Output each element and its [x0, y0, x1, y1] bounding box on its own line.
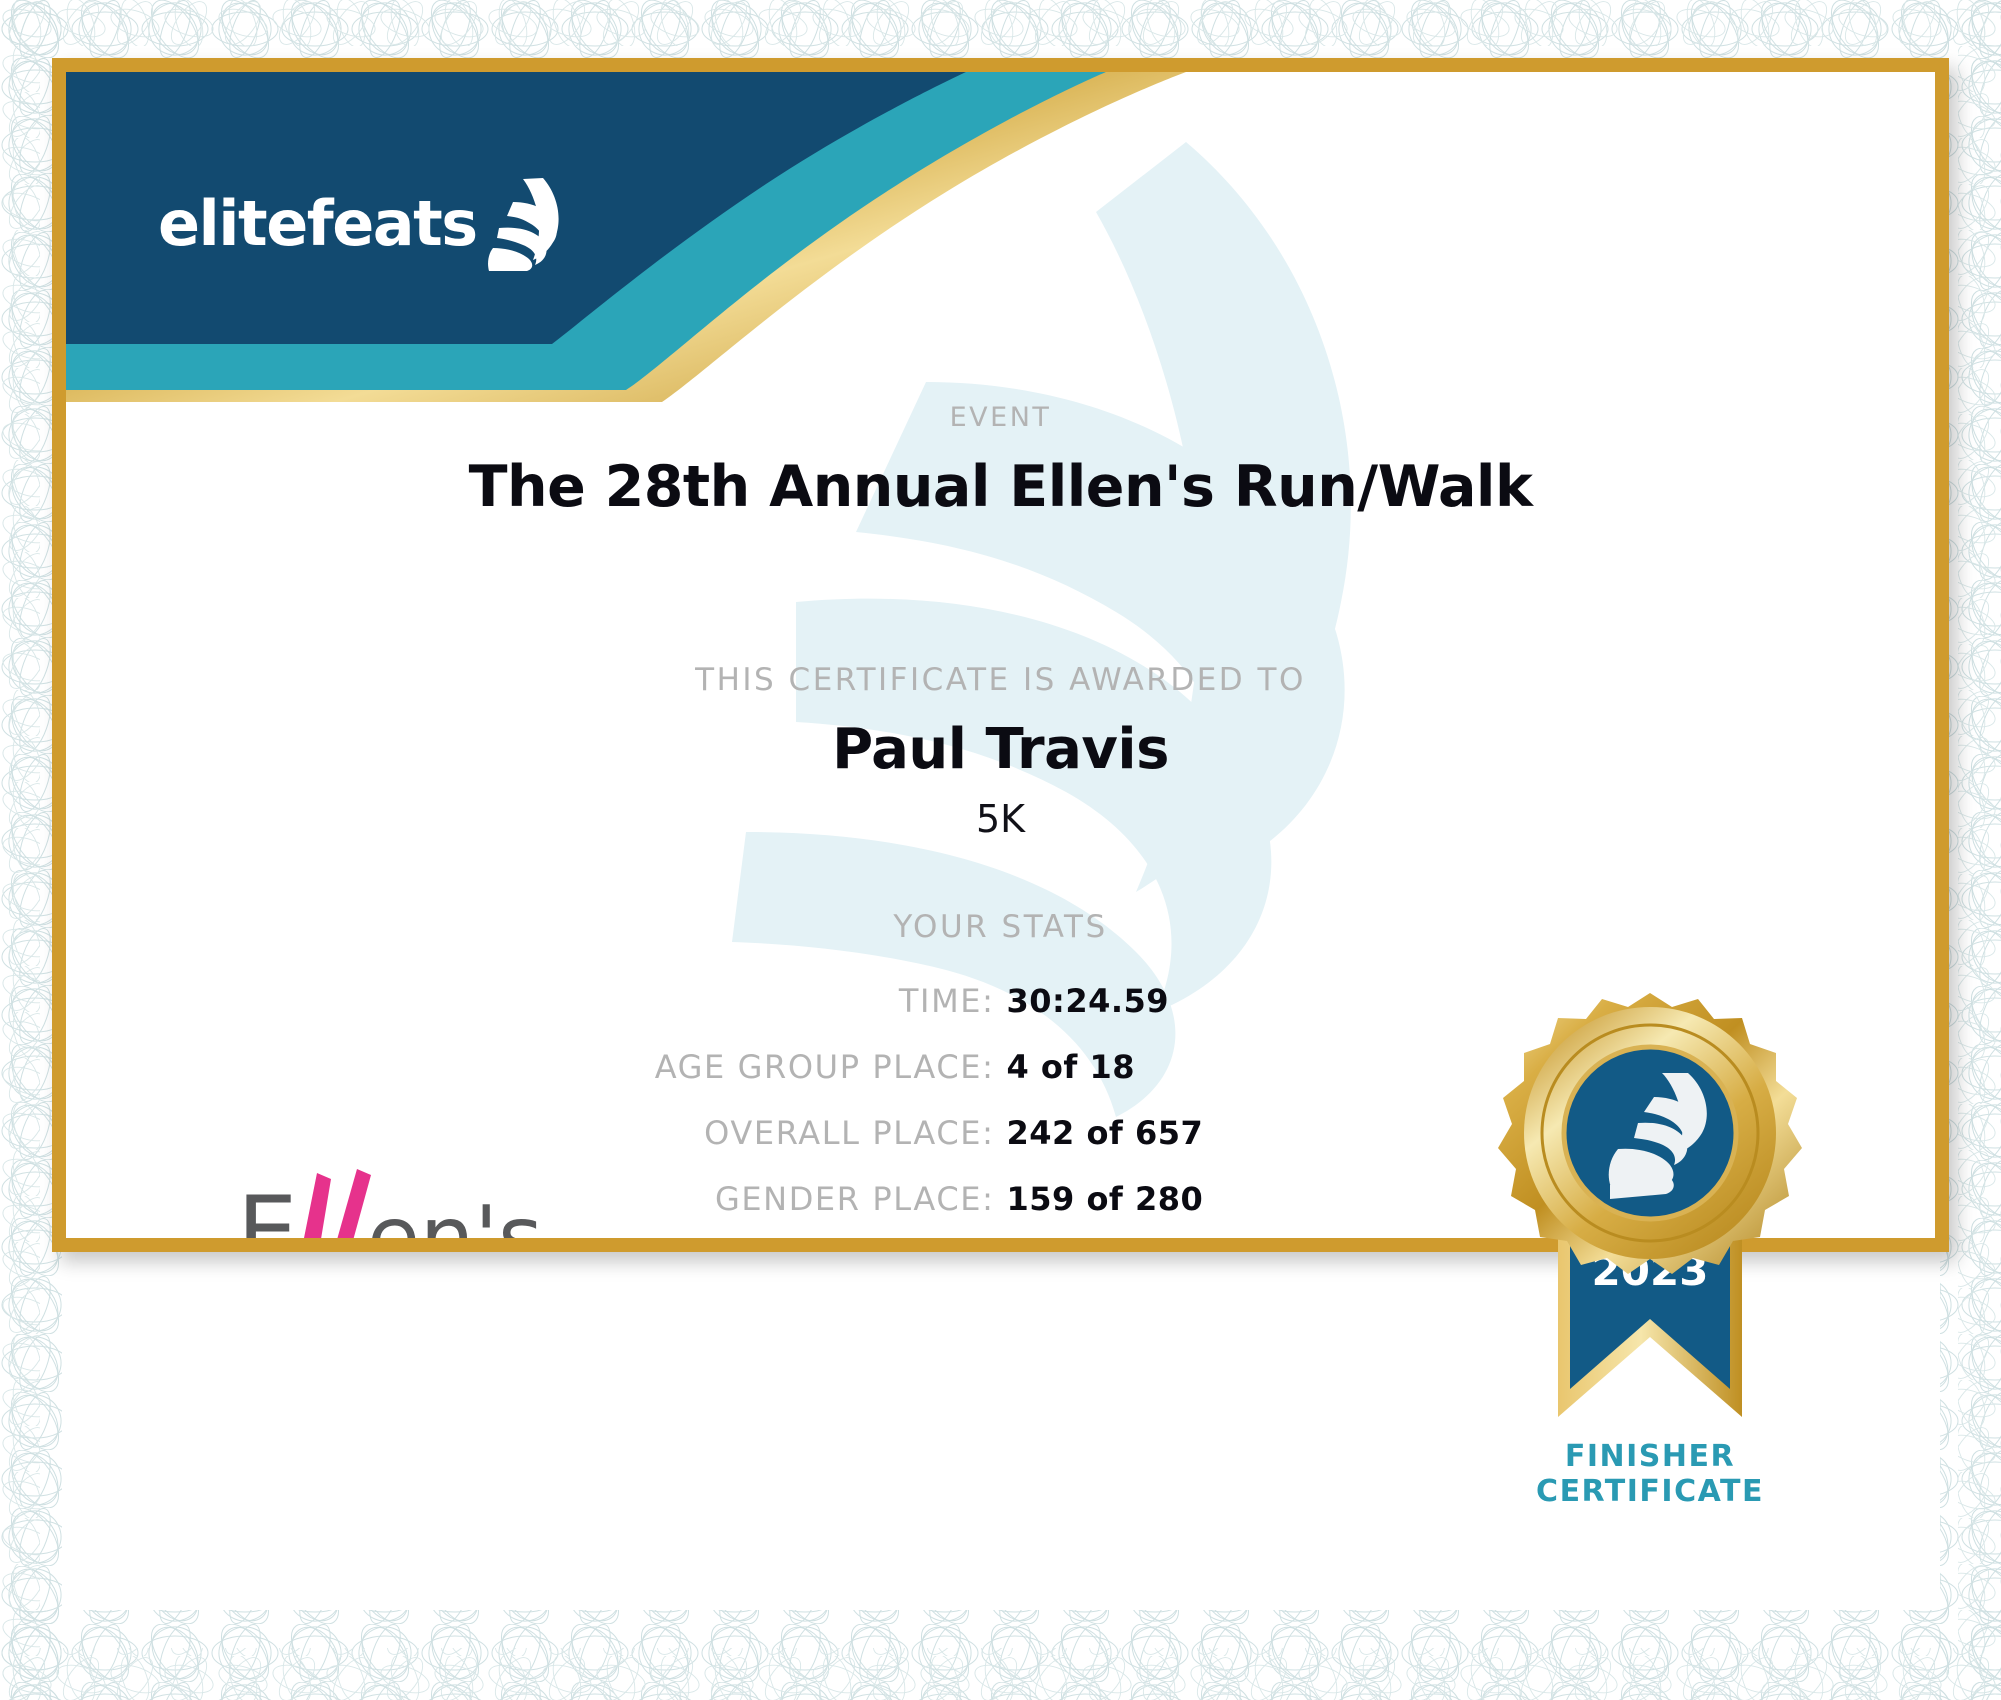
event-title: The 28th Annual Ellen's Run/Walk	[66, 454, 1935, 520]
event-label: EVENT	[66, 402, 1935, 433]
stat-key-age-group-place: AGE GROUP PLACE:	[295, 1048, 1007, 1086]
brand-wordmark: elitefeats	[158, 193, 477, 255]
race-distance: 5K	[66, 797, 1935, 841]
ellens-logo-ens: en's	[367, 1188, 543, 1238]
ellens-logo-double-l	[297, 1169, 371, 1238]
elitefeats-logo: elitefeats	[158, 176, 569, 272]
finisher-medal-badge: 2023	[1440, 985, 1860, 1455]
winged-foot-icon	[483, 176, 569, 272]
medal-caption-line2: CERTIFICATE	[1440, 1475, 1860, 1510]
medal-caption: FINISHER CERTIFICATE	[1440, 1440, 1860, 1509]
ellens-logo-E: E	[237, 1176, 298, 1238]
ellens-run-logo: E en's 28 TH ANNUAL Run ®	[231, 1157, 591, 1238]
stats-label: YOUR STATS	[66, 909, 1935, 945]
medal-disc	[1498, 993, 1802, 1274]
stat-key-overall-place: OVERALL PLACE:	[295, 1114, 1007, 1152]
stat-key-time: TIME:	[295, 982, 1007, 1020]
recipient-name: Paul Travis	[66, 717, 1935, 782]
medal-caption-line1: FINISHER	[1440, 1440, 1860, 1475]
awarded-to-label: THIS CERTIFICATE IS AWARDED TO	[66, 662, 1935, 698]
